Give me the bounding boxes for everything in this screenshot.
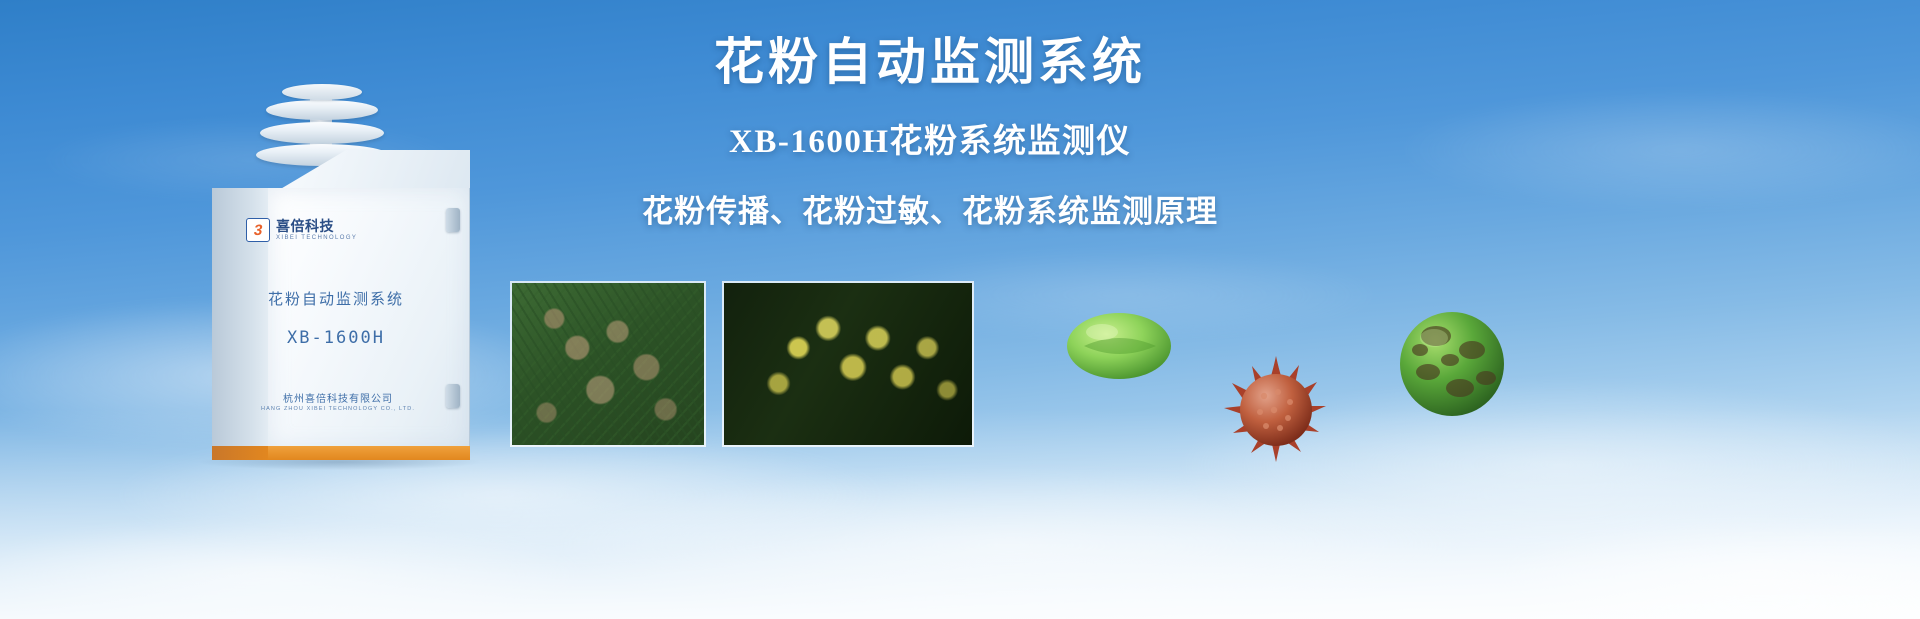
device-base-accent-side [212, 446, 268, 460]
textured-sphere-pollen-grain [1398, 310, 1506, 418]
headline-block: 花粉自动监测系统 XB-1600H花粉系统监测仪 花粉传播、花粉过敏、花粉系统监… [540, 32, 1320, 232]
device-rain-shield-disc [266, 100, 378, 120]
xibei-logo-icon: 3 [246, 218, 270, 242]
catkin-photo-image [724, 283, 972, 445]
cypress-pollen-cones-photo [510, 281, 706, 447]
catkin-pollen-photo [722, 281, 974, 447]
page-title: 花粉自动监测系统 [540, 32, 1320, 93]
xibei-logo-glyph: 3 [253, 223, 264, 238]
device-rain-shield-disc [260, 122, 384, 144]
smooth-oval-pollen-grain [1066, 312, 1172, 380]
device-base-accent [268, 446, 470, 460]
cloud-wisp [1400, 90, 1920, 210]
device-brand-name-cn: 喜倍科技 [276, 219, 357, 234]
device-stack-cap [282, 84, 362, 100]
device-product-name: 花粉自动监测系统 [212, 288, 460, 309]
device-company-name-cn: 杭州喜倍科技有限公司 [212, 390, 464, 405]
device-brand-text: 喜倍科技 XIBEI TECHNOLOGY [276, 219, 357, 242]
page-description: 花粉传播、花粉过敏、花粉系统监测原理 [540, 192, 1320, 232]
device-cabinet: 3 喜倍科技 XIBEI TECHNOLOGY 花粉自动监测系统 XB-1600… [212, 188, 470, 460]
page-subtitle: XB-1600H花粉系统监测仪 [540, 121, 1320, 164]
pollen-monitor-device: 3 喜倍科技 XIBEI TECHNOLOGY 花粉自动监测系统 XB-1600… [190, 78, 490, 438]
device-company-name-en: HANG ZHOU XIBEI TECHNOLOGY CO., LTD. [212, 406, 464, 412]
device-model-number: XB-1600H [212, 328, 460, 348]
spiky-pollen-grain [1222, 356, 1330, 464]
device-brand-logo: 3 喜倍科技 XIBEI TECHNOLOGY [246, 218, 357, 242]
banner-root: 花粉自动监测系统 XB-1600H花粉系统监测仪 花粉传播、花粉过敏、花粉系统监… [0, 0, 1920, 619]
device-brand-name-en: XIBEI TECHNOLOGY [276, 235, 357, 241]
cypress-photo-image [512, 283, 704, 445]
device-latch-handle-top[interactable] [446, 208, 460, 232]
